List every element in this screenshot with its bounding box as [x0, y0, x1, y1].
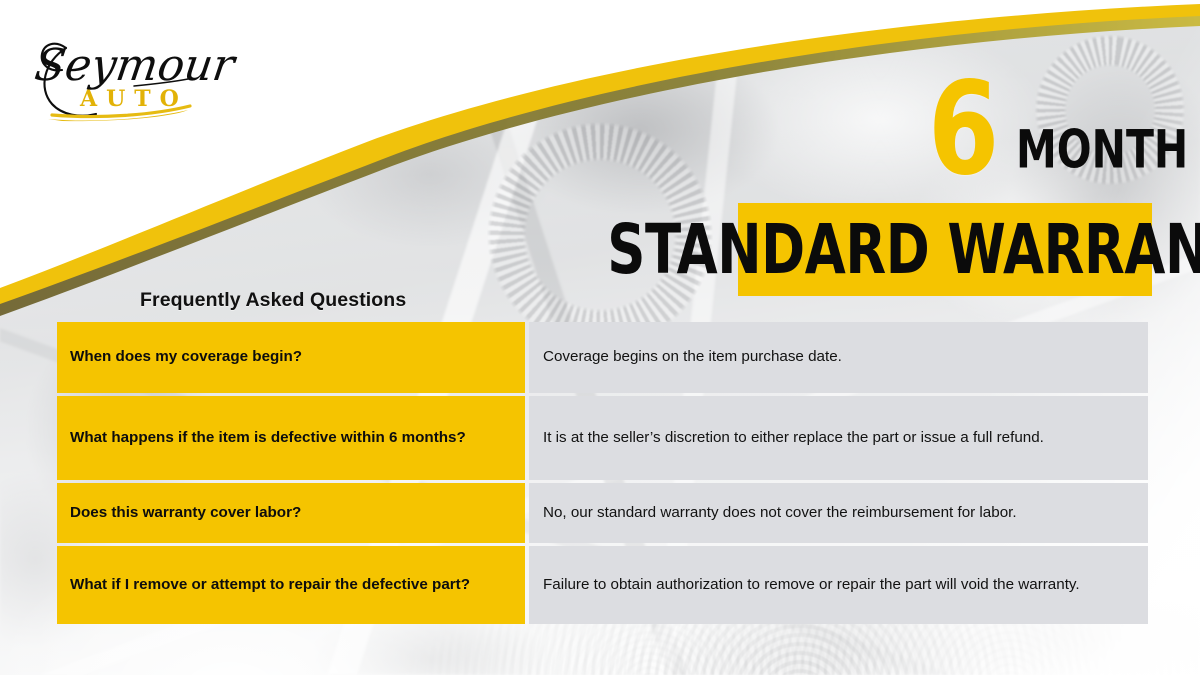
- faq-answer-cell: No, our standard warranty does not cover…: [529, 483, 1148, 543]
- logo-script-text: Seymour: [32, 40, 241, 91]
- warranty-headline: 6 MONTH STANDARD WARRANTY: [700, 70, 1170, 305]
- warranty-band: STANDARD WARRANTY: [738, 203, 1152, 296]
- faq-question-cell: Does this warranty cover labor?: [57, 483, 525, 543]
- faq-row: Does this warranty cover labor? No, our …: [57, 483, 1148, 543]
- faq-row: What happens if the item is defective wi…: [57, 396, 1148, 480]
- faq-question-text: What if I remove or attempt to repair th…: [70, 575, 470, 595]
- faq-question-text: When does my coverage begin?: [70, 347, 302, 367]
- warranty-band-label: STANDARD WARRANTY: [607, 215, 1200, 283]
- faq-answer-text: Coverage begins on the item purchase dat…: [543, 347, 1134, 367]
- faq-section-title: Frequently Asked Questions: [140, 289, 406, 312]
- faq-row: What if I remove or attempt to repair th…: [57, 546, 1148, 624]
- faq-answer-text: No, our standard warranty does not cover…: [543, 503, 1134, 523]
- faq-question-text: Does this warranty cover labor?: [70, 503, 301, 523]
- faq-question-text: What happens if the item is defective wi…: [70, 428, 466, 448]
- slide-canvas: Seymour AUTO 6 MONTH STANDARD WARRANTY F…: [0, 0, 1200, 675]
- duration-unit: MONTH: [1016, 123, 1188, 176]
- faq-row: When does my coverage begin? Coverage be…: [57, 322, 1148, 393]
- faq-question-cell: What happens if the item is defective wi…: [57, 396, 525, 480]
- seymour-auto-logo: Seymour AUTO: [22, 18, 252, 130]
- faq-answer-text: Failure to obtain authorization to remov…: [543, 575, 1134, 595]
- faq-answer-cell: It is at the seller’s discretion to eith…: [529, 396, 1148, 480]
- faq-answer-cell: Failure to obtain authorization to remov…: [529, 546, 1148, 624]
- duration-number: 6: [928, 66, 998, 194]
- logo-sub-text: AUTO: [79, 86, 188, 112]
- faq-answer-cell: Coverage begins on the item purchase dat…: [529, 322, 1148, 393]
- faq-table: When does my coverage begin? Coverage be…: [57, 322, 1148, 624]
- faq-question-cell: When does my coverage begin?: [57, 322, 525, 393]
- faq-answer-text: It is at the seller’s discretion to eith…: [543, 428, 1134, 448]
- faq-question-cell: What if I remove or attempt to repair th…: [57, 546, 525, 624]
